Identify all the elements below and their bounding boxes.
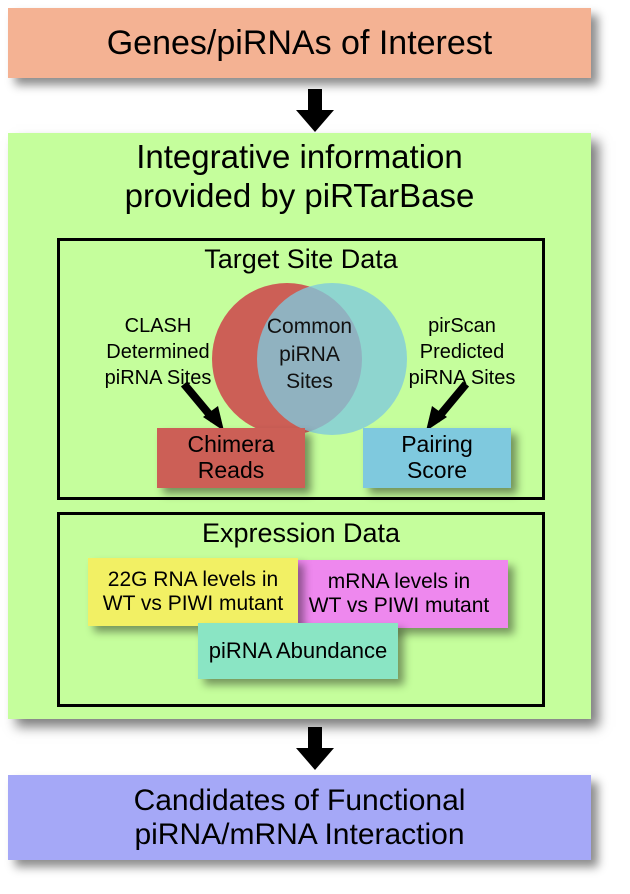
pirscan-label-line2: Predicted bbox=[396, 339, 528, 365]
clash-to-chimera-arrow-icon bbox=[180, 381, 240, 433]
venn-diagram: Common piRNA Sites bbox=[212, 283, 407, 435]
pirscan-to-pairing-arrow-icon bbox=[410, 381, 470, 433]
venn-overlap-label: Common piRNA Sites bbox=[260, 313, 359, 396]
top-banner-label: Genes/piRNAs of Interest bbox=[107, 24, 493, 62]
bottom-banner-line1: Candidates of Functional bbox=[134, 784, 466, 818]
down-arrow-icon bbox=[282, 727, 348, 776]
green-panel-title-line1: Integrative information bbox=[8, 138, 591, 177]
venn-overlap-line2: piRNA bbox=[260, 341, 359, 369]
pirna-abundance-label: piRNA Abundance bbox=[209, 639, 388, 664]
bottom-banner-line2: piRNA/mRNA Interaction bbox=[134, 818, 466, 852]
green-panel-integrative-info: Integrative information provided by piRT… bbox=[8, 133, 591, 719]
expression-data-title: Expression Data bbox=[60, 518, 542, 549]
target-site-data-title: Target Site Data bbox=[60, 244, 542, 275]
clash-label-line1: CLASH bbox=[92, 313, 224, 339]
venn-overlap-line1: Common bbox=[260, 313, 359, 341]
chimera-reads-box: Chimera Reads bbox=[157, 428, 305, 488]
target-site-data-section: Target Site Data Common piRNA Sites CLAS… bbox=[57, 238, 545, 500]
pirna-abundance-box: piRNA Abundance bbox=[198, 623, 398, 679]
clash-determined-label: CLASH Determined piRNA Sites bbox=[92, 313, 224, 391]
venn-overlap-line3: Sites bbox=[260, 368, 359, 396]
pirscan-predicted-label: pirScan Predicted piRNA Sites bbox=[396, 313, 528, 391]
pairing-score-line2: Score bbox=[401, 458, 473, 484]
pirscan-label-line1: pirScan bbox=[396, 313, 528, 339]
pairing-score-box: Pairing Score bbox=[363, 428, 511, 488]
mrna-levels-box: mRNA levels in WT vs PIWI mutant bbox=[290, 560, 508, 628]
chimera-reads-line1: Chimera bbox=[188, 432, 275, 458]
down-arrow-icon bbox=[282, 89, 348, 138]
rna-22g-line2: WT vs PIWI mutant bbox=[103, 592, 283, 616]
diagram-canvas: Genes/piRNAs of Interest Integrative inf… bbox=[0, 0, 630, 894]
pairing-score-line1: Pairing bbox=[401, 432, 473, 458]
mrna-line1: mRNA levels in bbox=[309, 570, 489, 594]
chimera-reads-line2: Reads bbox=[188, 458, 275, 484]
top-banner-genes-pirnas: Genes/piRNAs of Interest bbox=[8, 8, 591, 78]
rna-22g-levels-box: 22G RNA levels in WT vs PIWI mutant bbox=[88, 558, 298, 626]
expression-data-section: Expression Data 22G RNA levels in WT vs … bbox=[57, 512, 545, 707]
green-panel-title-line2: provided by piRTarBase bbox=[8, 177, 591, 216]
bottom-banner-candidates: Candidates of Functional piRNA/mRNA Inte… bbox=[8, 775, 591, 860]
rna-22g-line1: 22G RNA levels in bbox=[103, 568, 283, 592]
mrna-line2: WT vs PIWI mutant bbox=[309, 594, 489, 618]
clash-label-line2: Determined bbox=[92, 339, 224, 365]
green-panel-title: Integrative information provided by piRT… bbox=[8, 138, 591, 216]
